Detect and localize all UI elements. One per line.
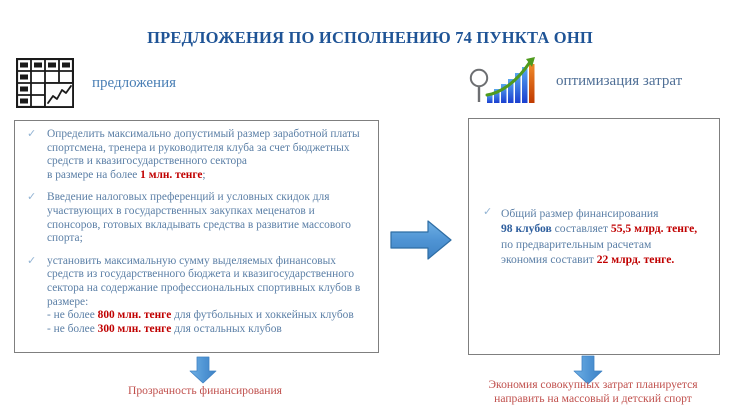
bullet-2-text: Введение налоговых преференций и условны… (47, 191, 351, 244)
bullet-1-text-c: ; (202, 169, 205, 181)
financing-line-1: Общий размер финансирования (501, 207, 658, 220)
page-title: ПРЕДЛОЖЕНИЯ ПО ИСПОЛНЕНИЮ 74 ПУНКТА ОНП (0, 28, 740, 48)
header-proposals: предложения (16, 58, 176, 108)
financing-line-4-prefix: экономия составит (501, 253, 597, 266)
header-proposals-label: предложения (92, 75, 176, 92)
proposals-panel: ✓ Определить максимально допустимый разм… (14, 120, 379, 353)
caption-savings-line-1: Экономия совокупных затрат планируется (488, 378, 697, 391)
header-cost-optimization: оптимизация затрат (468, 55, 682, 107)
check-icon: ✓ (483, 206, 492, 220)
caption-savings: Экономия совокупных затрат планируется н… (448, 378, 738, 406)
list-item: ✓ Общий размер финансирования 98 клубов … (477, 206, 711, 268)
caption-transparency: Прозрачность финансирования (60, 384, 350, 398)
list-item: ✓ установить максимальную сумму выделяем… (21, 255, 370, 337)
table-chart-icon (16, 58, 74, 108)
header-cost-optimization-label: оптимизация затрат (556, 73, 682, 90)
bullet-3-sub2-amount: 300 млн. тенге (98, 323, 172, 335)
check-icon: ✓ (27, 255, 36, 269)
bullet-1-amount: 1 млн. тенге (140, 169, 202, 181)
magnifier-growth-bars-icon (468, 55, 546, 107)
list-item: ✓ Определить максимально допустимый разм… (21, 128, 370, 182)
caption-savings-line-2: направить на массовый и детский спорт (494, 392, 692, 405)
financing-summary-panel: ✓ Общий размер финансирования 98 клубов … (468, 118, 720, 355)
bullet-1-text-a: Определить максимально допустимый размер… (47, 128, 360, 167)
financing-line-3: по предварительным расчетам (501, 238, 651, 251)
financing-clubs-count: 98 клубов (501, 222, 552, 235)
bullet-3-sub1-suffix: для футбольных и хоккейных клубов (171, 309, 353, 321)
bullet-3-sub1-amount: 800 млн. тенге (98, 309, 172, 321)
bullet-3-sub2-prefix: - не более (47, 323, 98, 335)
bullet-3-text-a: установить максимальную сумму выделяемых… (47, 255, 360, 308)
financing-total-amount: 55,5 млрд. тенге, (611, 222, 697, 235)
bullet-1-text-b: в размере на более (47, 169, 140, 181)
bullet-3-sub2-suffix: для остальных клубов (171, 323, 282, 335)
check-icon: ✓ (27, 191, 36, 205)
financing-line-2-mid: составляет (552, 222, 611, 235)
check-icon: ✓ (27, 128, 36, 142)
proposals-list: ✓ Определить максимально допустимый разм… (21, 128, 370, 336)
financing-savings-amount: 22 млрд. тенге. (597, 253, 675, 266)
arrow-right-icon (390, 219, 452, 266)
list-item: ✓ Введение налоговых преференций и услов… (21, 191, 370, 245)
bullet-3-sub1-prefix: - не более (47, 309, 98, 321)
